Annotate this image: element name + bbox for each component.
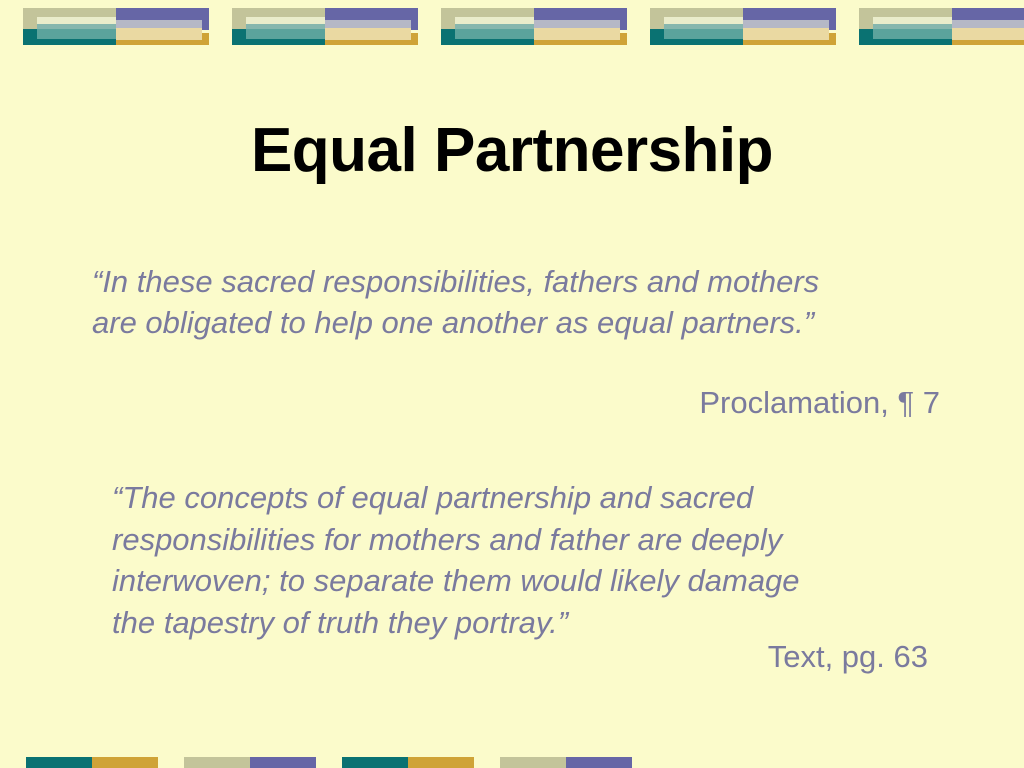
quote-line: responsibilities for mothers and father … — [112, 519, 902, 561]
pale-gold-bar — [534, 28, 620, 40]
top-band-unit — [23, 0, 209, 48]
purple-block — [250, 757, 316, 768]
teal-block — [342, 757, 408, 768]
inner-teal-bar — [455, 29, 534, 39]
bottom-band-unit — [26, 757, 158, 768]
quote-line: “In these sacred responsibilities, fathe… — [92, 262, 912, 303]
pale-gold-bar — [743, 28, 829, 40]
pale-gold-bar — [116, 28, 202, 40]
khaki-block — [500, 757, 566, 768]
pale-gold-bar — [952, 28, 1024, 40]
inner-teal-bar — [246, 29, 325, 39]
top-decorative-band — [0, 0, 1024, 56]
quote-line: the tapestry of truth they portray.” — [112, 602, 902, 644]
gold-block — [92, 757, 158, 768]
top-band-unit — [441, 0, 627, 48]
top-band-unit — [232, 0, 418, 48]
bottom-band-unit — [342, 757, 474, 768]
quote-proclamation: “In these sacred responsibilities, fathe… — [92, 262, 912, 344]
khaki-block — [184, 757, 250, 768]
attribution-proclamation: Proclamation, ¶ 7 — [699, 385, 940, 421]
top-band-unit — [650, 0, 836, 48]
pale-gold-bar — [325, 28, 411, 40]
page-title: Equal Partnership — [0, 118, 1024, 183]
quote-text: “The concepts of equal partnership and s… — [112, 477, 902, 643]
bottom-band-unit — [500, 757, 632, 768]
gold-block — [408, 757, 474, 768]
slide-canvas: Equal Partnership “In these sacred respo… — [0, 0, 1024, 768]
inner-teal-bar — [37, 29, 116, 39]
inner-teal-bar — [664, 29, 743, 39]
quote-line: interwoven; to separate them would likel… — [112, 560, 902, 602]
purple-block — [566, 757, 632, 768]
quote-line: are obligated to help one another as equ… — [92, 303, 912, 344]
bottom-band-unit — [184, 757, 316, 768]
attribution-text: Text, pg. 63 — [768, 639, 928, 675]
top-band-unit — [859, 0, 1024, 48]
quote-line: “The concepts of equal partnership and s… — [112, 477, 902, 519]
teal-block — [26, 757, 92, 768]
bottom-decorative-band — [0, 754, 1024, 768]
inner-teal-bar — [873, 29, 952, 39]
